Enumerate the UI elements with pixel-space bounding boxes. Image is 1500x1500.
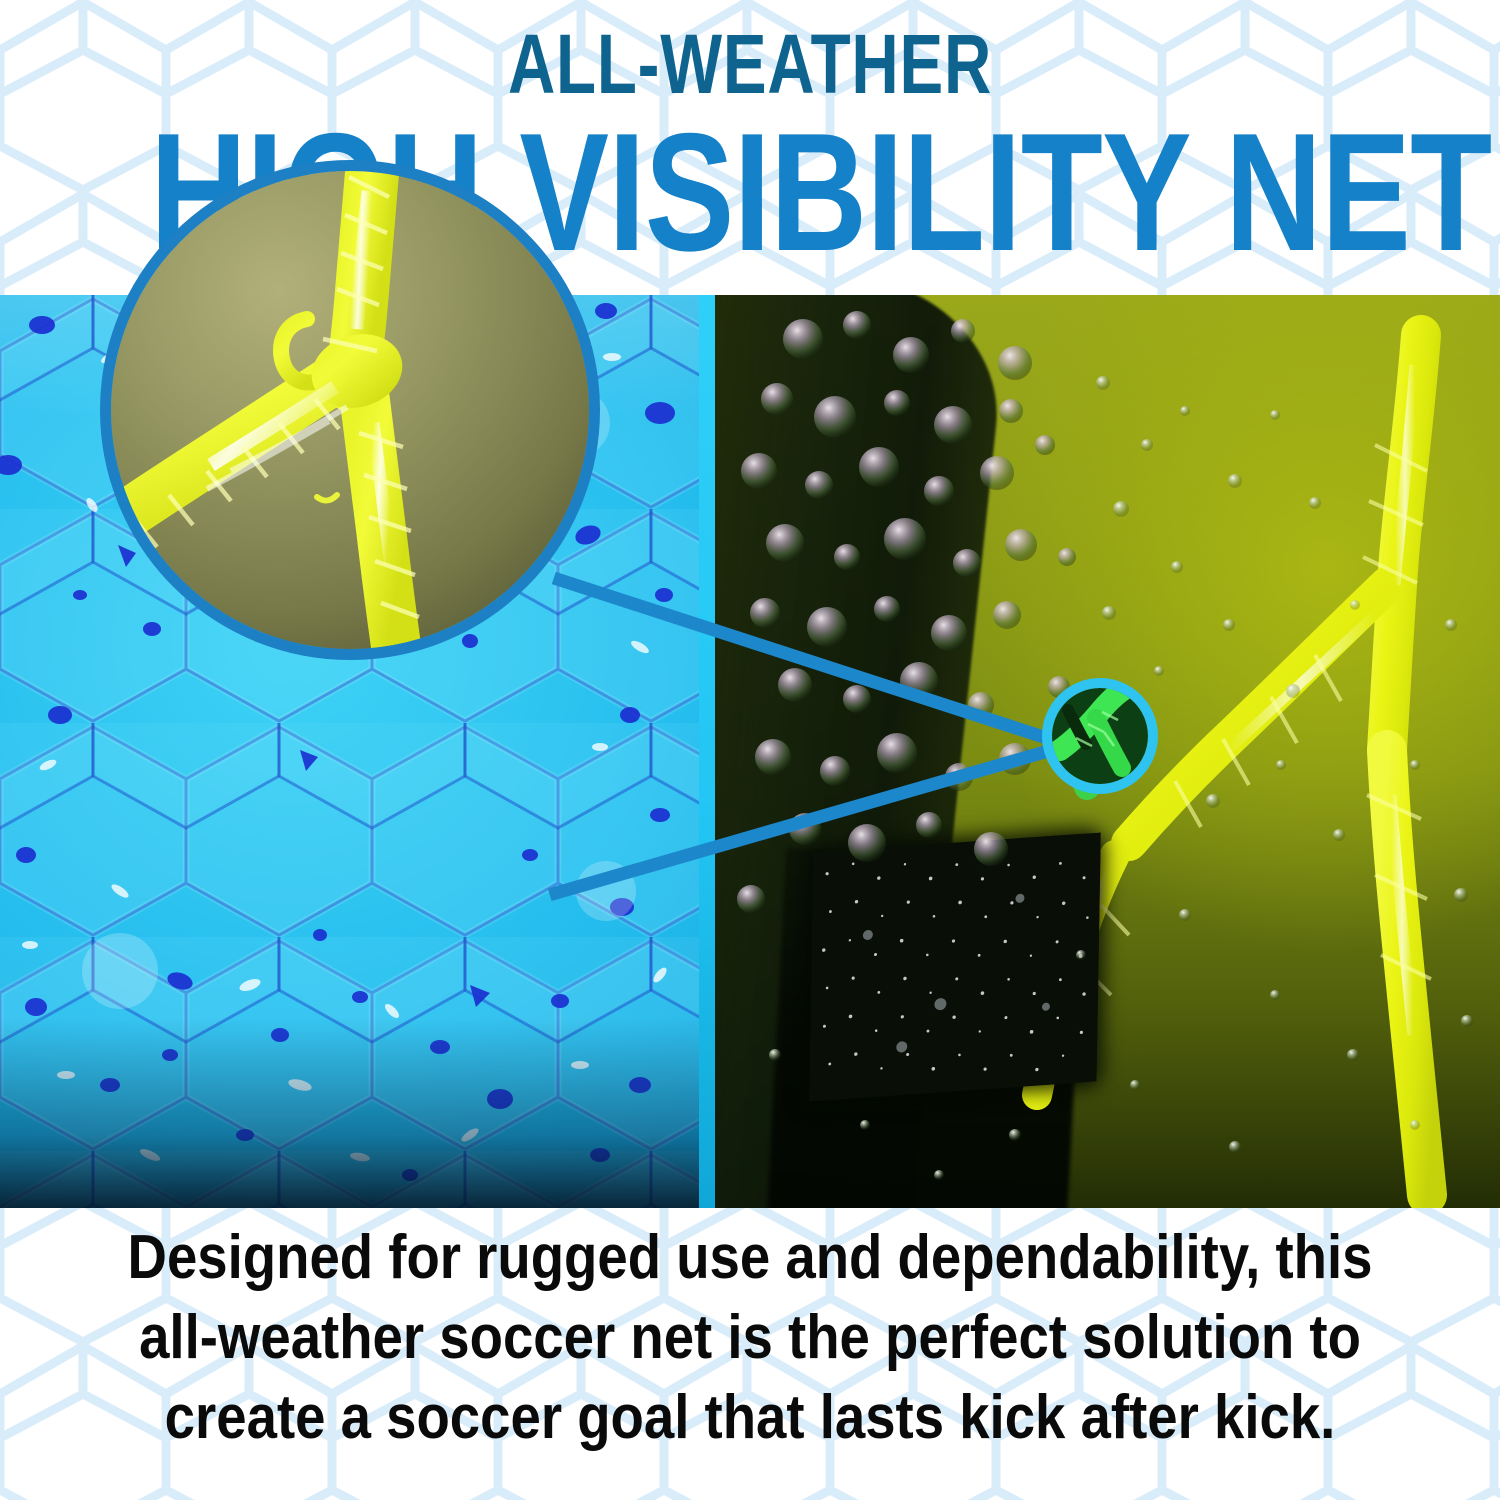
magnifier-ring <box>100 160 600 660</box>
magnifier-target-ring <box>1042 678 1158 794</box>
left-panel-bottom-vignette <box>0 1018 699 1208</box>
caption-line-2: all-weather soccer net is the perfect so… <box>90 1298 1410 1378</box>
product-feature-card: ALL-WEATHER HIGH VISIBILITY NET <box>0 0 1500 1500</box>
caption-line-1: Designed for rugged use and dependabilit… <box>90 1218 1410 1298</box>
kicker-text: ALL-WEATHER <box>165 18 1335 110</box>
caption: Designed for rugged use and dependabilit… <box>0 1218 1500 1458</box>
magnifier-circle <box>100 160 600 660</box>
panel-divider <box>699 295 715 1208</box>
magnifier-target-circle <box>1042 678 1158 794</box>
caption-line-3: create a soccer goal that lasts kick aft… <box>90 1378 1410 1458</box>
